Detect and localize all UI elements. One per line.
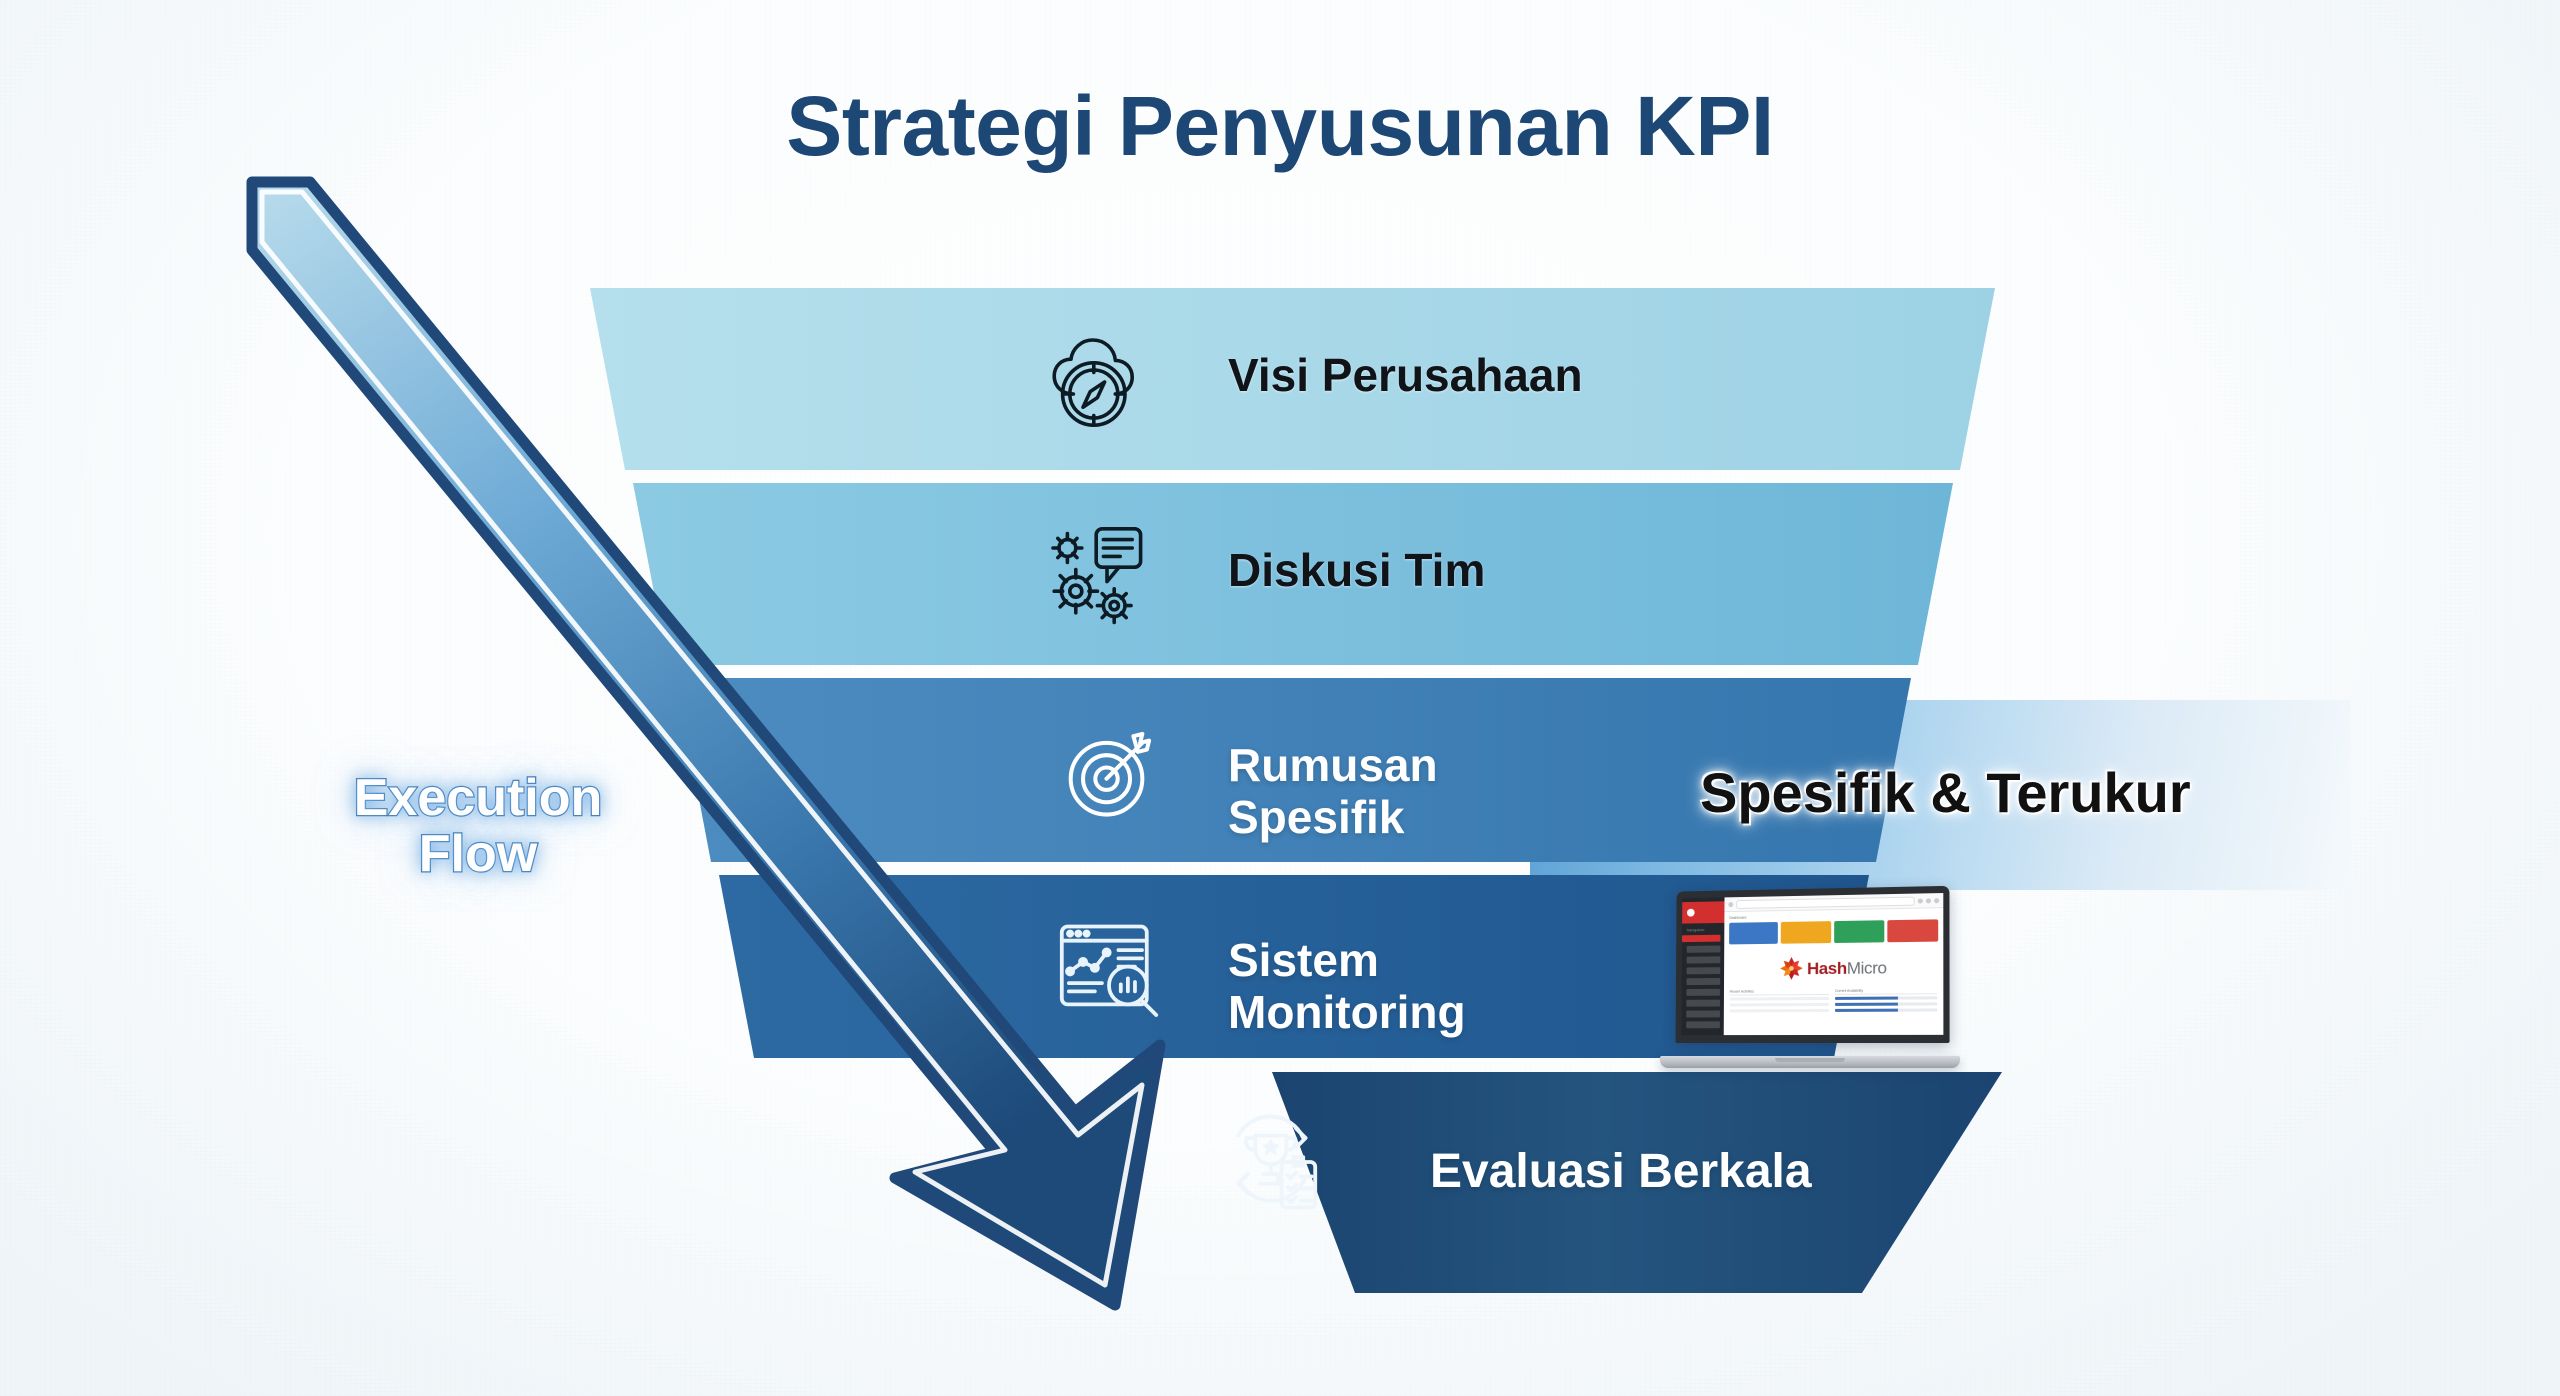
sidebar-item xyxy=(1686,978,1720,985)
funnel-diagram xyxy=(0,0,2560,1396)
laptop-trackpad-notch xyxy=(1775,1058,1845,1062)
gear-icon xyxy=(1934,898,1939,903)
brand-hash: Hash xyxy=(1807,958,1847,977)
table-row xyxy=(1835,1008,1937,1011)
breadcrumb: Dashboard xyxy=(1729,912,1938,920)
search-icon xyxy=(1728,902,1733,907)
table-right-caption: Current Availability xyxy=(1835,988,1937,995)
kpi-card xyxy=(1834,920,1884,943)
table-row xyxy=(1730,1009,1829,1012)
search-input xyxy=(1736,896,1915,908)
brand-micro: Micro xyxy=(1847,958,1887,977)
sidebar-item xyxy=(1687,967,1721,974)
sidebar-item xyxy=(1687,946,1721,953)
hashmicro-logo: HashMicro xyxy=(1729,946,1938,990)
funnel-stage-1 xyxy=(590,288,1995,470)
kpi-card xyxy=(1781,921,1831,944)
avatar xyxy=(1926,898,1931,903)
funnel-stage-5 xyxy=(1272,1072,2002,1293)
sidebar-item xyxy=(1686,989,1720,996)
sidebar-item-active xyxy=(1682,935,1720,942)
infographic-canvas: Strategi Penyusunan KPI xyxy=(0,0,2560,1396)
laptop-base xyxy=(1660,1056,1960,1068)
bell-icon xyxy=(1918,898,1923,903)
table-row xyxy=(1835,996,1937,1000)
funnel-stage-2 xyxy=(633,483,1953,665)
laptop-lid: Navigation xyxy=(1676,886,1950,1043)
table-row xyxy=(1835,1002,1937,1006)
sidebar-caption: Navigation xyxy=(1687,928,1725,933)
laptop-mockup: Navigation xyxy=(1660,888,1960,1068)
dashboard-body: Dashboard xyxy=(1724,908,1944,1035)
table-left-caption: Recent Activities xyxy=(1730,989,1829,996)
side-banner-label: Spesifik & Terukur xyxy=(1700,760,2191,825)
table-left: Recent Activities xyxy=(1730,989,1829,1015)
hashmicro-wordmark: HashMicro xyxy=(1807,959,1887,977)
table-right: Current Availability xyxy=(1835,988,1937,1015)
hashmicro-mark-icon xyxy=(1778,955,1804,981)
sidebar-item xyxy=(1687,956,1721,963)
sidebar-item xyxy=(1686,1021,1720,1028)
laptop-screen: Navigation xyxy=(1681,893,1943,1035)
sidebar-item xyxy=(1686,1000,1720,1007)
brand-dot-icon xyxy=(1687,909,1695,917)
table-row xyxy=(1730,997,1829,1001)
dashboard-brand-logo xyxy=(1682,901,1724,923)
kpi-card xyxy=(1887,919,1938,942)
dashboard-tables: Recent Activities Current Availability xyxy=(1729,988,1939,1015)
kpi-card xyxy=(1729,922,1778,944)
sidebar-item xyxy=(1686,1010,1720,1017)
dashboard-sidebar: Navigation xyxy=(1681,897,1724,1035)
dashboard-main: Dashboard xyxy=(1724,893,1944,1035)
table-row xyxy=(1730,1003,1829,1007)
kpi-card-row xyxy=(1729,919,1938,944)
execution-flow-label: Execution Flow xyxy=(288,770,668,882)
